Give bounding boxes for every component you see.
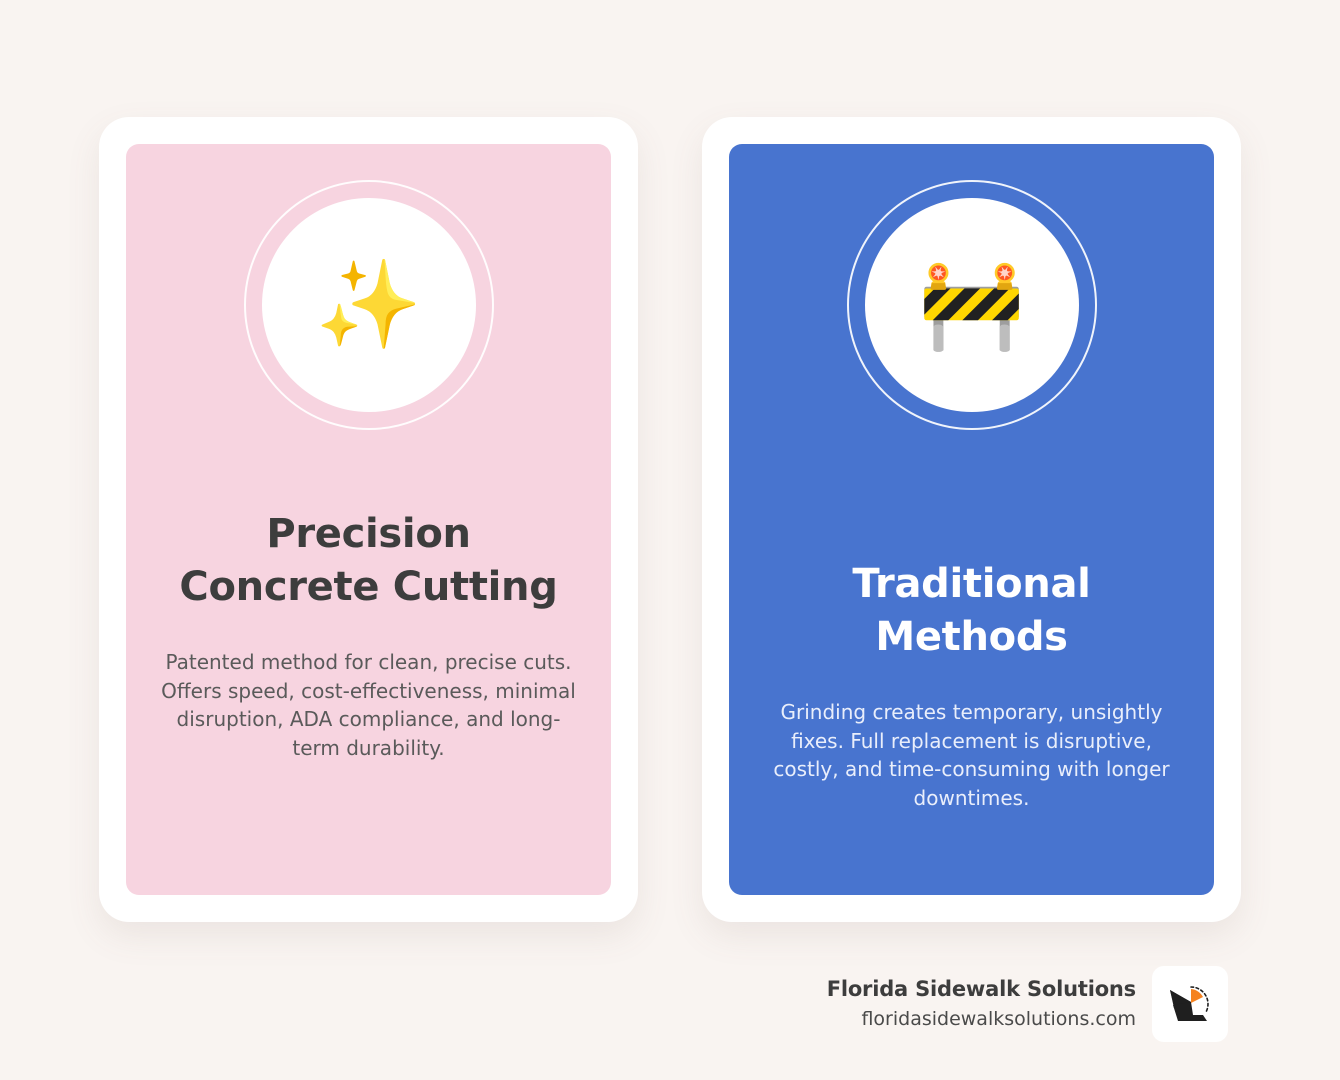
card-body-precision: Patented method for clean, precise cuts.… [126, 648, 611, 762]
card-traditional-methods: 🚧 Traditional Methods Grinding creates t… [702, 117, 1241, 922]
card-panel-pink: ✨ Precision Concrete Cutting Patented me… [126, 144, 611, 895]
card-body-traditional: Grinding creates temporary, unsightly fi… [729, 698, 1214, 812]
card-title-line-2: Concrete Cutting [179, 564, 557, 610]
construction-barrier-icon: 🚧 [918, 262, 1025, 348]
card-precision-concrete-cutting: ✨ Precision Concrete Cutting Patented me… [99, 117, 638, 922]
card-title-precision: Precision Concrete Cutting [155, 508, 581, 614]
brand-logo-box [1152, 966, 1228, 1042]
sparkles-icon: ✨ [315, 262, 422, 348]
card-title-line-1: Precision [266, 511, 470, 557]
brand-url[interactable]: floridasidewalksolutions.com [827, 1006, 1136, 1034]
icon-medallion-sparkles: ✨ [244, 180, 494, 430]
brand-text-block: Florida Sidewalk Solutions floridasidewa… [827, 975, 1136, 1034]
florida-sidewalk-solutions-logo [1161, 975, 1219, 1033]
card-panel-blue: 🚧 Traditional Methods Grinding creates t… [729, 144, 1214, 895]
card-title-traditional: Traditional Methods [729, 558, 1214, 664]
footer-branding: Florida Sidewalk Solutions floridasidewa… [827, 966, 1228, 1042]
icon-medallion-construction: 🚧 [847, 180, 1097, 430]
comparison-cards-row: ✨ Precision Concrete Cutting Patented me… [0, 117, 1340, 922]
brand-name: Florida Sidewalk Solutions [827, 975, 1136, 1003]
